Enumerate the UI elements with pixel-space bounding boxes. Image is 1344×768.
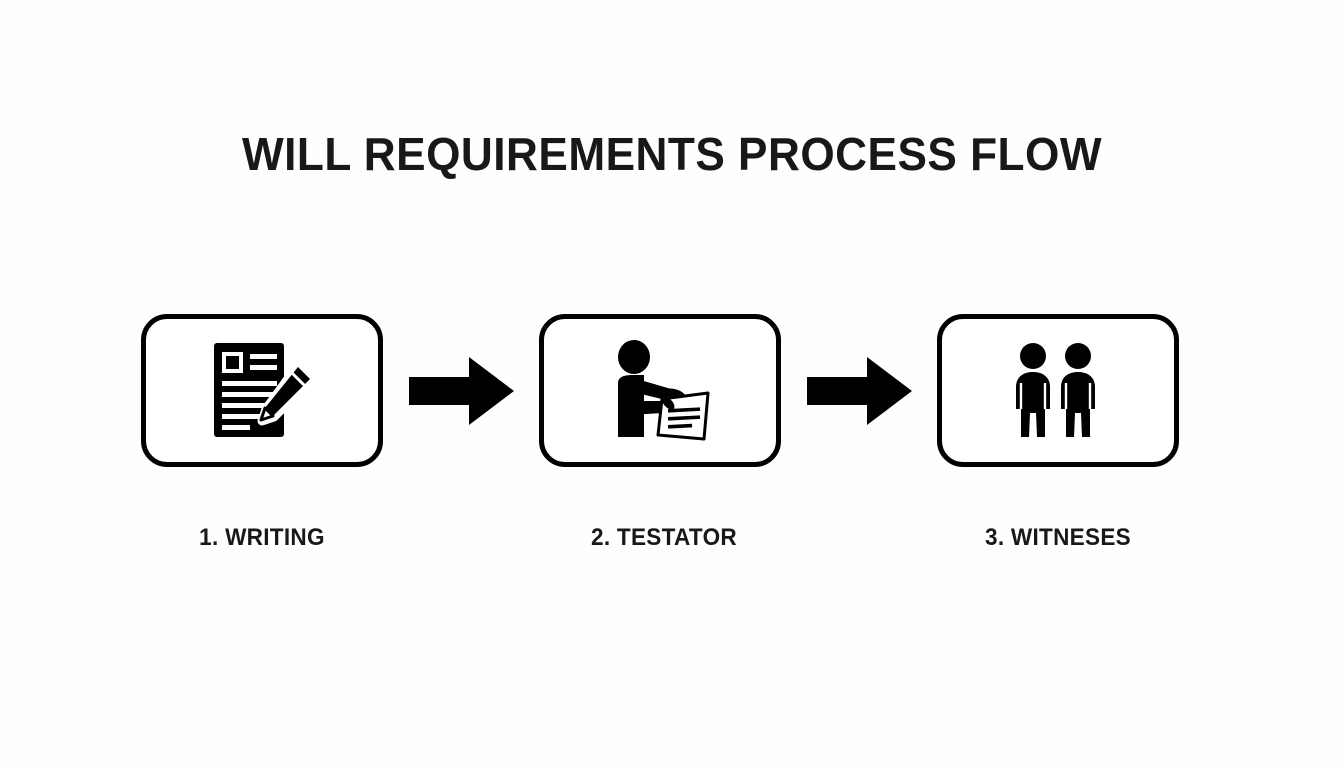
person-left — [1016, 343, 1050, 437]
caption-step-2: 2. TESTATOR — [514, 522, 815, 554]
caption-step-3: 3. WITNESES — [908, 522, 1209, 554]
step-box-witnesses[interactable] — [937, 314, 1179, 467]
step-box-writing[interactable] — [141, 314, 383, 467]
flow-steps-row — [141, 313, 1179, 468]
document-with-pencil-icon — [206, 339, 318, 443]
step-captions-row: 1. WRITING 2. TESTATOR 3. WITNESES — [0, 522, 1344, 556]
page-title: WILL REQUIREMENTS PROCESS FLOW — [27, 128, 1317, 180]
process-flow-diagram: WILL REQUIREMENTS PROCESS FLOW — [0, 0, 1344, 768]
person-right — [1061, 343, 1095, 437]
step-box-testator[interactable] — [539, 314, 781, 467]
arrow-1-to-2 — [409, 355, 514, 427]
person-signing-document-icon — [604, 339, 716, 443]
arrow-2-to-3 — [807, 355, 912, 427]
caption-step-1: 1. WRITING — [112, 522, 413, 554]
two-people-icon — [1002, 339, 1114, 443]
